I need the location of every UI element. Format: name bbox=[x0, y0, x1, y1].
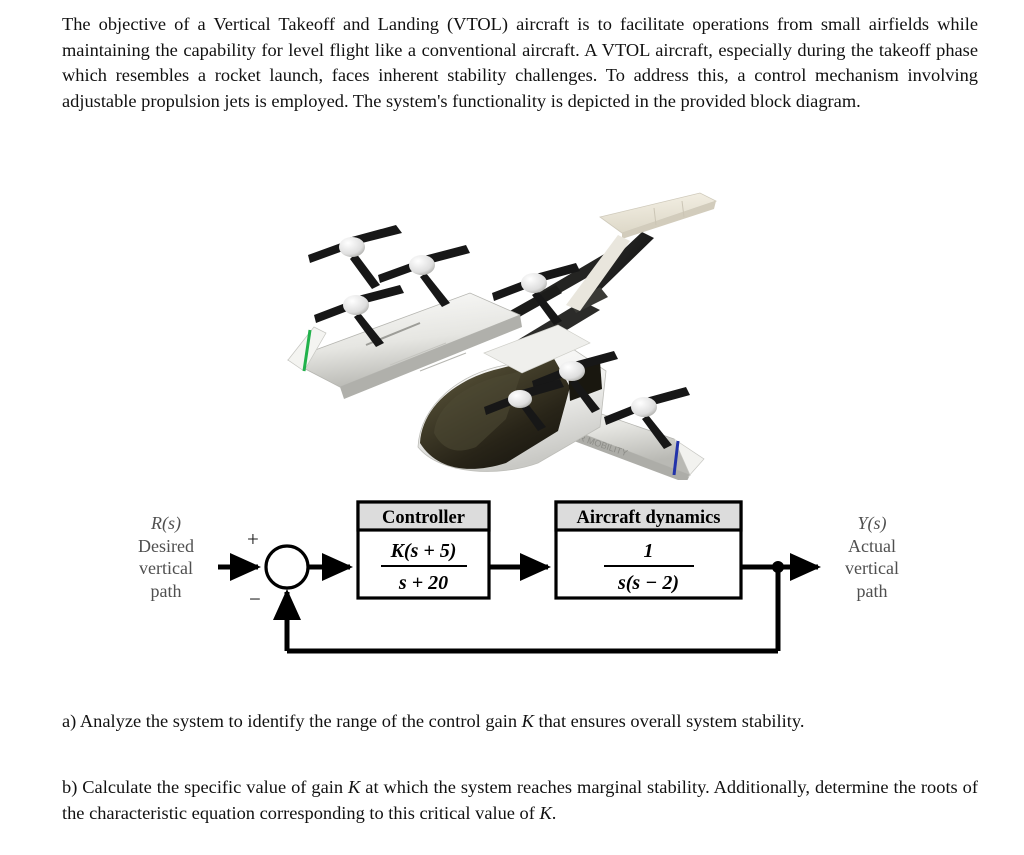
summing-junction bbox=[266, 546, 308, 588]
question-a: a) Analyze the system to identify the ra… bbox=[62, 709, 978, 735]
controller-title: Controller bbox=[382, 508, 465, 528]
controller-block: Controller K(s + 5) s + 20 bbox=[358, 502, 489, 598]
plant-denominator: s(s − 2) bbox=[617, 572, 679, 594]
vtol-aircraft-figure: AIR MOBILITY bbox=[270, 175, 760, 480]
plant-title: Aircraft dynamics bbox=[576, 508, 720, 528]
block-diagram: + − Controller K(s + 5) s + 20 Aircraft … bbox=[0, 488, 1024, 678]
controller-numerator: K(s + 5) bbox=[390, 540, 457, 562]
question-b: b) Calculate the specific value of gain … bbox=[62, 775, 978, 826]
plus-sign-label: + bbox=[247, 527, 259, 551]
intro-paragraph: The objective of a Vertical Takeoff and … bbox=[62, 12, 978, 114]
takeoff-node bbox=[772, 561, 784, 573]
aircraft-dynamics-block: Aircraft dynamics 1 s(s − 2) bbox=[556, 502, 741, 598]
minus-sign-label: − bbox=[249, 587, 261, 611]
controller-denominator: s + 20 bbox=[398, 572, 448, 594]
plant-numerator: 1 bbox=[644, 540, 654, 562]
horizontal-stabilizer bbox=[600, 193, 716, 239]
